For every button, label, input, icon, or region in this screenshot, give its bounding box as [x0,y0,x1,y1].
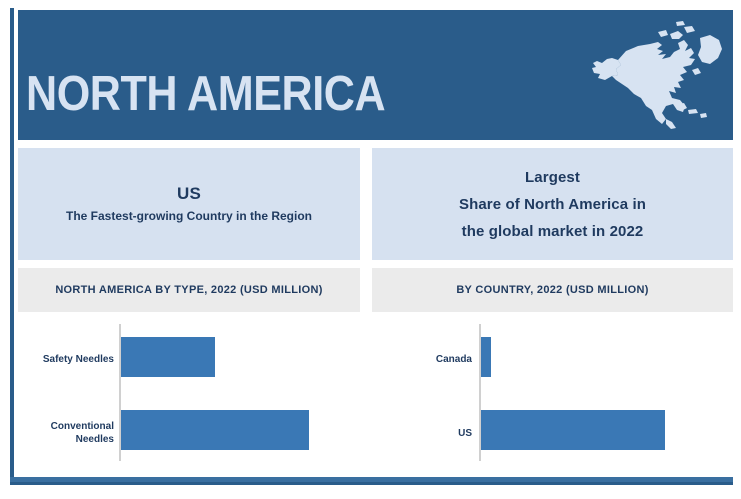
bar-label-canada: Canada [372,353,472,366]
info-panel-line-2: Share of North America in [459,191,646,218]
info-panel-subtext: The Fastest-growing Country in the Regio… [66,207,312,225]
bar-label-conventional-needles: Conventional Needles [18,420,114,446]
frame-bottom-accent-dark [10,482,733,485]
chart-by-country: Canada US [372,316,733,474]
bar-label-safety-needles: Safety Needles [18,353,114,366]
page-title: NORTH AMERICA [26,68,385,120]
chart-title-by-country: BY COUNTRY, 2022 (USD MILLION) [372,268,733,312]
header-banner: NORTH AMERICA [18,10,733,140]
chart-title-by-type: NORTH AMERICA BY TYPE, 2022 (USD MILLION… [18,268,360,312]
bar-label-us: US [372,427,472,440]
frame-left-accent [10,8,14,485]
bar-us [481,410,665,450]
bar-safety-needles [121,337,215,377]
bar-canada [481,337,491,377]
info-panel-headline: US [177,183,201,205]
info-panel-country: US The Fastest-growing Country in the Re… [18,148,360,260]
infographic-page: NORTH AMERICA [0,0,741,499]
info-panel-share: Largest Share of North America in the gl… [372,148,733,260]
info-panel-line-1: Largest [525,164,580,191]
north-america-map-icon [588,18,728,130]
chart-by-type: Safety Needles Conventional Needles [18,316,360,474]
bar-conventional-needles [121,410,309,450]
info-panel-line-3: the global market in 2022 [462,218,644,245]
